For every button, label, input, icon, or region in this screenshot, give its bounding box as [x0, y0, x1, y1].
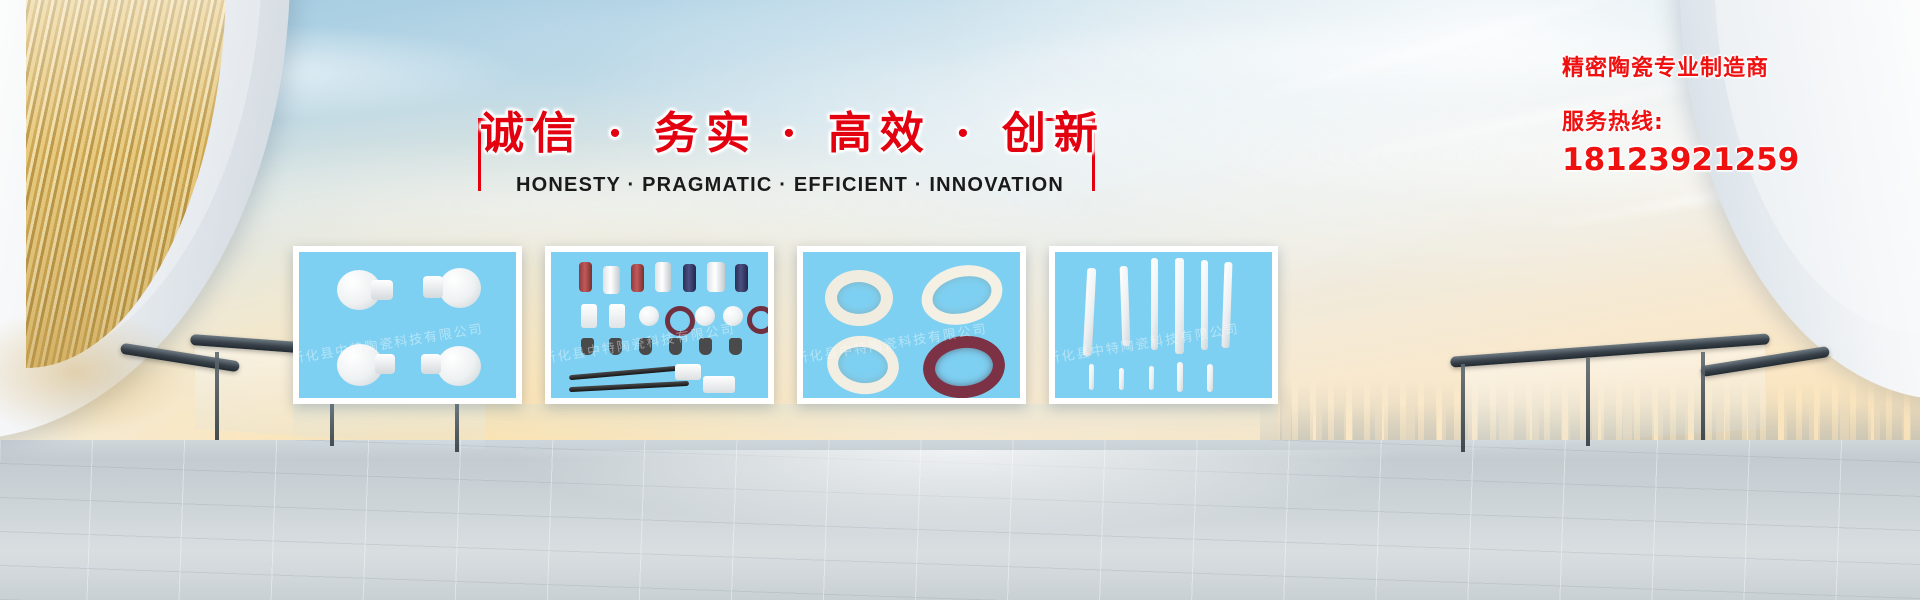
contact-tip: [699, 338, 712, 355]
ceramic-tube: [707, 262, 725, 292]
railing-post: [215, 352, 219, 440]
ceramic-ring: [823, 331, 902, 398]
ceramic-part: [371, 280, 393, 300]
ceramic-part: [375, 354, 395, 374]
ceramic-ring: [915, 257, 1009, 333]
ceramic-ring-red: [920, 332, 1008, 402]
ceramic-rod: [1175, 258, 1184, 354]
ceramic-rod: [1151, 258, 1158, 350]
hero-banner: 诚信 · 务实 · 高效 · 创新 HONESTY · PRAGMATIC · …: [0, 0, 1920, 600]
ceramic-ring: [747, 306, 774, 334]
contact-tip: [669, 338, 682, 355]
ceramic-tube: [683, 264, 696, 292]
product-card-ceramic-rods[interactable]: 新化县中特陶瓷科技有限公司: [1049, 246, 1278, 404]
contact-tip: [639, 338, 652, 355]
ceramic-pin: [1119, 368, 1124, 390]
ceramic-tube: [579, 262, 592, 292]
ceramic-part: [439, 268, 481, 308]
ceramic-plate: [609, 304, 625, 328]
ceramic-disc: [723, 306, 743, 326]
ceramic-tube: [631, 264, 644, 292]
ceramic-rod: [1120, 266, 1131, 346]
contact-block: 精密陶瓷专业制造商 服务热线: 18123921259: [1562, 50, 1799, 178]
product-card-ceramic-nozzle-fittings[interactable]: 新化县中特陶瓷科技有限公司: [293, 246, 522, 404]
ceramic-pin: [1149, 366, 1154, 390]
company-tagline: 精密陶瓷专业制造商: [1562, 50, 1799, 82]
hotline-number[interactable]: 18123921259: [1562, 142, 1799, 178]
wire-lead: [569, 381, 689, 392]
ceramic-plate: [581, 304, 597, 328]
contact-tip: [729, 338, 742, 355]
product-card-ceramic-rings[interactable]: 新化县中特陶瓷科技有限公司: [797, 246, 1026, 404]
product-card-ceramic-tubes-and-contacts[interactable]: 新化县中特陶瓷科技有限公司: [545, 246, 774, 404]
ceramic-rod: [1222, 262, 1233, 348]
product-gallery: 新化县中特陶瓷科技有限公司: [293, 246, 1278, 404]
contact-tip: [609, 338, 622, 355]
ceramic-ring: [665, 306, 695, 336]
ceramic-tube: [655, 262, 671, 292]
slogan-english: HONESTY · PRAGMATIC · EFFICIENT · INNOVA…: [480, 174, 1100, 197]
ceramic-pin: [1177, 362, 1183, 392]
railing-post: [1701, 352, 1705, 440]
image-watermark: 新化县中特陶瓷科技有限公司: [293, 308, 522, 368]
floor-reflection: [346, 450, 1575, 600]
ceramic-rod: [1201, 260, 1208, 350]
slogan-block: 诚信 · 务实 · 高效 · 创新 HONESTY · PRAGMATIC · …: [480, 108, 1100, 197]
ceramic-disc: [639, 306, 659, 326]
ceramic-ring: [825, 270, 893, 326]
slogan-chinese: 诚信 · 务实 · 高效 · 创新: [480, 108, 1100, 160]
railing-post: [1586, 358, 1590, 446]
ceramic-tube: [735, 264, 748, 292]
ceramic-part: [437, 346, 481, 386]
wire-lead: [569, 365, 689, 380]
ceramic-rod: [1083, 268, 1097, 356]
connector-housing: [675, 364, 701, 380]
ceramic-tube: [603, 266, 620, 294]
connector-housing: [703, 376, 735, 393]
ceramic-part: [421, 354, 441, 374]
ceramic-part: [423, 276, 443, 298]
ceramic-pin: [1089, 364, 1094, 390]
ceramic-pin: [1207, 364, 1213, 392]
hotline-label: 服务热线:: [1562, 104, 1799, 136]
ceramic-disc: [695, 306, 715, 326]
contact-tip: [581, 338, 594, 355]
railing-post: [1461, 364, 1465, 452]
